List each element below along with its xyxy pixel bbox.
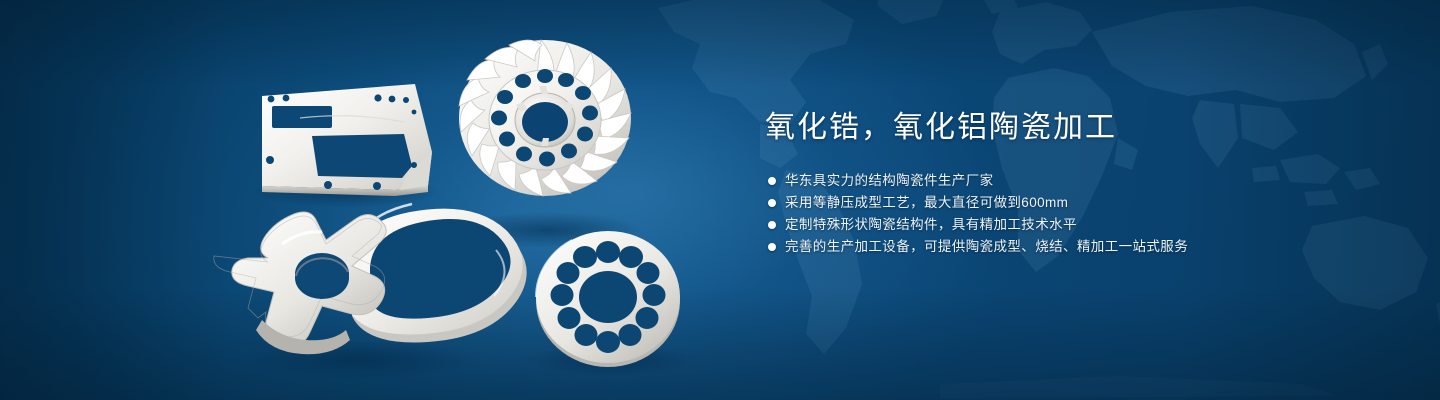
page-title: 氧化锆，氧化铝陶瓷加工 <box>765 108 1365 148</box>
ceramic-plate-part <box>262 84 432 196</box>
feature-list: 华东具实力的结构陶瓷件生产厂家 采用等静压成型工艺，最大直径可做到600mm 定… <box>768 170 1365 258</box>
feature-text: 定制特殊形状陶瓷结构件，具有精加工技术水平 <box>785 214 1077 236</box>
ceramic-impeller-part <box>459 40 631 196</box>
list-item: 采用等静压成型工艺，最大直径可做到600mm <box>768 192 1365 214</box>
feature-text: 华东具实力的结构陶瓷件生产厂家 <box>785 170 994 192</box>
list-item: 华东具实力的结构陶瓷件生产厂家 <box>768 170 1365 192</box>
banner-copy: 氧化锆，氧化铝陶瓷加工 华东具实力的结构陶瓷件生产厂家 采用等静压成型工艺，最大… <box>765 108 1365 258</box>
feature-text: 完善的生产加工设备，可提供陶瓷成型、烧结、精加工一站式服务 <box>785 236 1188 258</box>
list-item: 定制特殊形状陶瓷结构件，具有精加工技术水平 <box>768 214 1365 236</box>
promo-banner: 氧化锆，氧化铝陶瓷加工 华东具实力的结构陶瓷件生产厂家 采用等静压成型工艺，最大… <box>0 0 1440 400</box>
ceramic-perforated-disc-part <box>536 231 680 367</box>
product-photo-group <box>0 0 740 400</box>
ceramic-cross-part <box>214 212 386 354</box>
bullet-dot-icon <box>768 243 776 251</box>
feature-text: 采用等静压成型工艺，最大直径可做到600mm <box>785 192 1068 214</box>
bullet-dot-icon <box>768 177 776 185</box>
bullet-dot-icon <box>768 221 776 229</box>
bullet-dot-icon <box>768 199 776 207</box>
list-item: 完善的生产加工设备，可提供陶瓷成型、烧结、精加工一站式服务 <box>768 236 1365 258</box>
